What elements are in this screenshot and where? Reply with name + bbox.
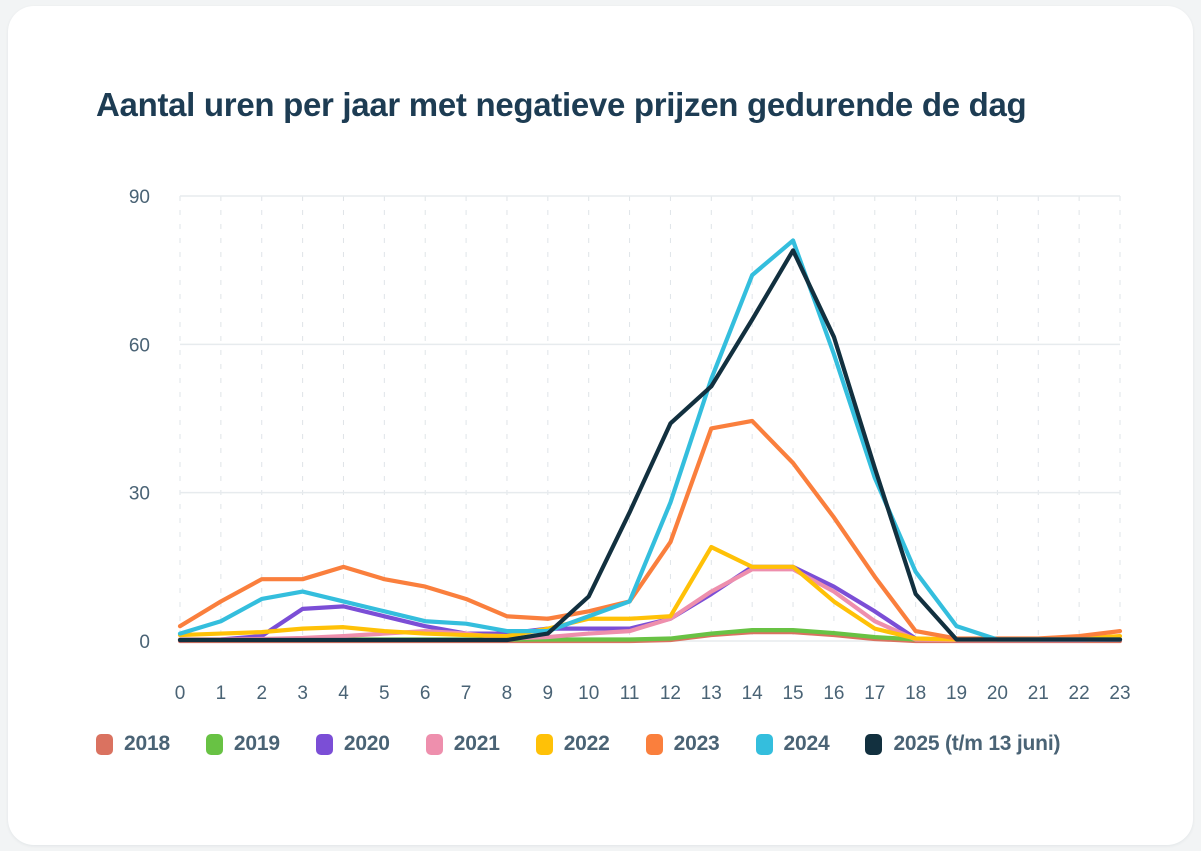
- x-axis-tick-label: 4: [338, 683, 349, 704]
- y-axis-tick-label: 0: [139, 632, 150, 653]
- legend-item-2022[interactable]: 2022: [536, 732, 610, 756]
- x-axis-tick-label: 8: [502, 683, 513, 704]
- legend-swatch-icon: [316, 734, 333, 755]
- y-axis-tick-label: 30: [129, 484, 150, 505]
- chart-legend: 20182019202020212022202320242025 (t/m 13…: [96, 732, 1096, 756]
- x-axis-tick-label: 7: [461, 683, 472, 704]
- legend-item-label: 2023: [674, 732, 720, 756]
- x-axis-tick-label: 21: [1028, 683, 1049, 704]
- legend-item-label: 2025 (t/m 13 juni): [893, 732, 1060, 756]
- legend-swatch-icon: [646, 734, 663, 755]
- x-axis-tick-label: 13: [701, 683, 722, 704]
- x-axis-tick-label: 23: [1109, 683, 1130, 704]
- legend-item-2023[interactable]: 2023: [646, 732, 720, 756]
- x-axis-tick-label: 15: [782, 683, 803, 704]
- legend-swatch-icon: [756, 734, 773, 755]
- x-axis-tick-label: 12: [660, 683, 681, 704]
- x-axis-tick-label: 6: [420, 683, 431, 704]
- x-axis-tick-label: 3: [297, 683, 308, 704]
- x-axis-tick-label: 17: [864, 683, 885, 704]
- y-axis-tick-label: 60: [129, 335, 150, 356]
- line-chart-svg: 0306090012345678910111213141516171819202…: [8, 6, 1193, 726]
- x-axis-tick-label: 20: [987, 683, 1008, 704]
- legend-item-2019[interactable]: 2019: [206, 732, 280, 756]
- x-axis-tick-label: 14: [742, 683, 764, 704]
- legend-item-label: 2019: [234, 732, 280, 756]
- x-axis-tick-label: 10: [578, 683, 599, 704]
- x-axis-tick-label: 2: [256, 683, 267, 704]
- x-axis-tick-label: 9: [543, 683, 554, 704]
- x-axis-tick-label: 0: [175, 683, 186, 704]
- x-axis-tick-label: 22: [1069, 683, 1090, 704]
- legend-item-2020[interactable]: 2020: [316, 732, 390, 756]
- x-axis-tick-label: 1: [216, 683, 227, 704]
- x-axis-tick-label: 19: [946, 683, 967, 704]
- legend-item-label: 2021: [454, 732, 500, 756]
- x-axis-tick-label: 5: [379, 683, 390, 704]
- x-axis-tick-label: 16: [823, 683, 844, 704]
- legend-item-label: 2024: [784, 732, 830, 756]
- legend-item-2021[interactable]: 2021: [426, 732, 500, 756]
- chart-plot-area: 0306090012345678910111213141516171819202…: [8, 6, 1193, 845]
- x-axis-tick-label: 11: [620, 683, 640, 704]
- legend-swatch-icon: [865, 734, 882, 755]
- legend-swatch-icon: [426, 734, 443, 755]
- y-axis-tick-label: 90: [129, 187, 150, 208]
- legend-item-label: 2018: [124, 732, 170, 756]
- legend-item-2025[interactable]: 2025 (t/m 13 juni): [865, 732, 1060, 756]
- chart-card: Aantal uren per jaar met negatieve prijz…: [8, 6, 1193, 845]
- series-line-2024: [180, 241, 1120, 640]
- x-axis-tick-label: 18: [905, 683, 926, 704]
- legend-item-2018[interactable]: 2018: [96, 732, 170, 756]
- legend-item-label: 2022: [564, 732, 610, 756]
- legend-swatch-icon: [96, 734, 113, 755]
- legend-item-2024[interactable]: 2024: [756, 732, 830, 756]
- legend-swatch-icon: [536, 734, 553, 755]
- legend-swatch-icon: [206, 734, 223, 755]
- legend-item-label: 2020: [344, 732, 390, 756]
- series-line-2025: [180, 250, 1120, 640]
